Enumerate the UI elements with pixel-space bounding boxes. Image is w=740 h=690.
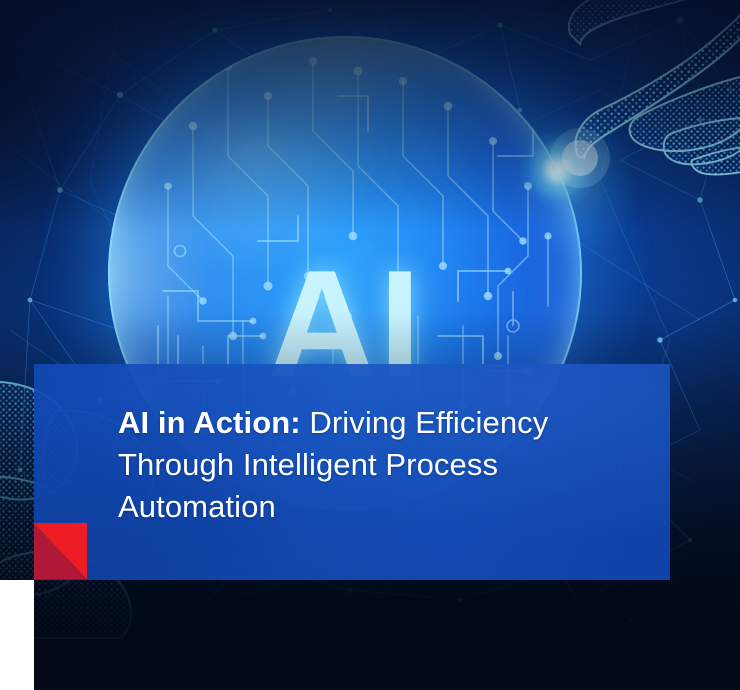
title-line3: Automation	[118, 489, 276, 524]
red-accent-square	[34, 523, 87, 579]
panel-title: AI in Action: Driving Efficiency Through…	[118, 402, 648, 528]
title-emphasis: AI in Action:	[118, 405, 301, 440]
ai-banner: AI	[0, 0, 740, 690]
title-line2: Through Intelligent Process	[118, 447, 498, 482]
title-panel: AI in Action: Driving Efficiency Through…	[34, 364, 670, 580]
white-corner-block	[0, 580, 34, 690]
top-shade-overlay	[0, 0, 740, 230]
title-rest: Driving Efficiency	[301, 405, 549, 440]
